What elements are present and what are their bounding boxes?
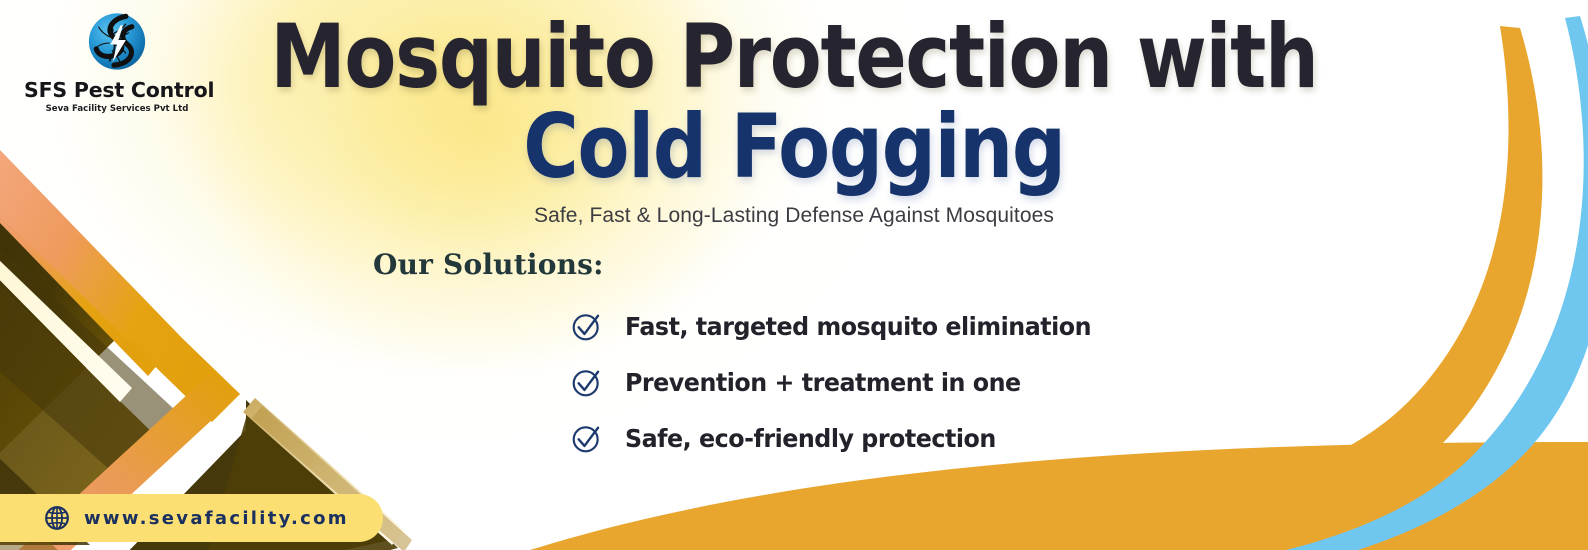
brand-logo[interactable]: SFS Pest Control Seva Facility Services … [24,6,210,114]
headline-line-1: Mosquito Protection with [111,14,1477,100]
check-circle-icon [570,422,603,455]
website-url: www.sevafacility.com [84,508,349,529]
headline-block: Mosquito Protection with Cold Fogging Sa… [0,14,1588,228]
brand-tagline: Seva Facility Services Pvt Ltd [24,104,210,114]
list-item: Safe, eco-friendly protection [570,410,1116,466]
list-item-label: Safe, eco-friendly protection [625,424,996,453]
globe-icon [44,505,70,531]
brand-name: SFS Pest Control [24,78,210,102]
headline-subtitle: Safe, Fast & Long-Lasting Defense Agains… [0,204,1588,228]
promo-banner: SFS Pest Control Seva Facility Services … [0,0,1588,550]
list-item-label: Fast, targeted mosquito elimination [625,312,1091,341]
list-item: Prevention + treatment in one [570,354,1116,410]
list-item-label: Prevention + treatment in one [625,368,1021,397]
check-circle-icon [570,366,603,399]
solutions-label: Our Solutions: [373,248,604,281]
website-pill[interactable]: www.sevafacility.com [0,494,383,542]
solutions-list: Fast, targeted mosquito elimination Prev… [570,298,1116,466]
sfs-sphere-lightning-mosquito-logo [80,6,154,80]
list-item: Fast, targeted mosquito elimination [570,298,1116,354]
headline-line-2: Cold Fogging [111,104,1477,190]
check-circle-icon [570,310,603,343]
